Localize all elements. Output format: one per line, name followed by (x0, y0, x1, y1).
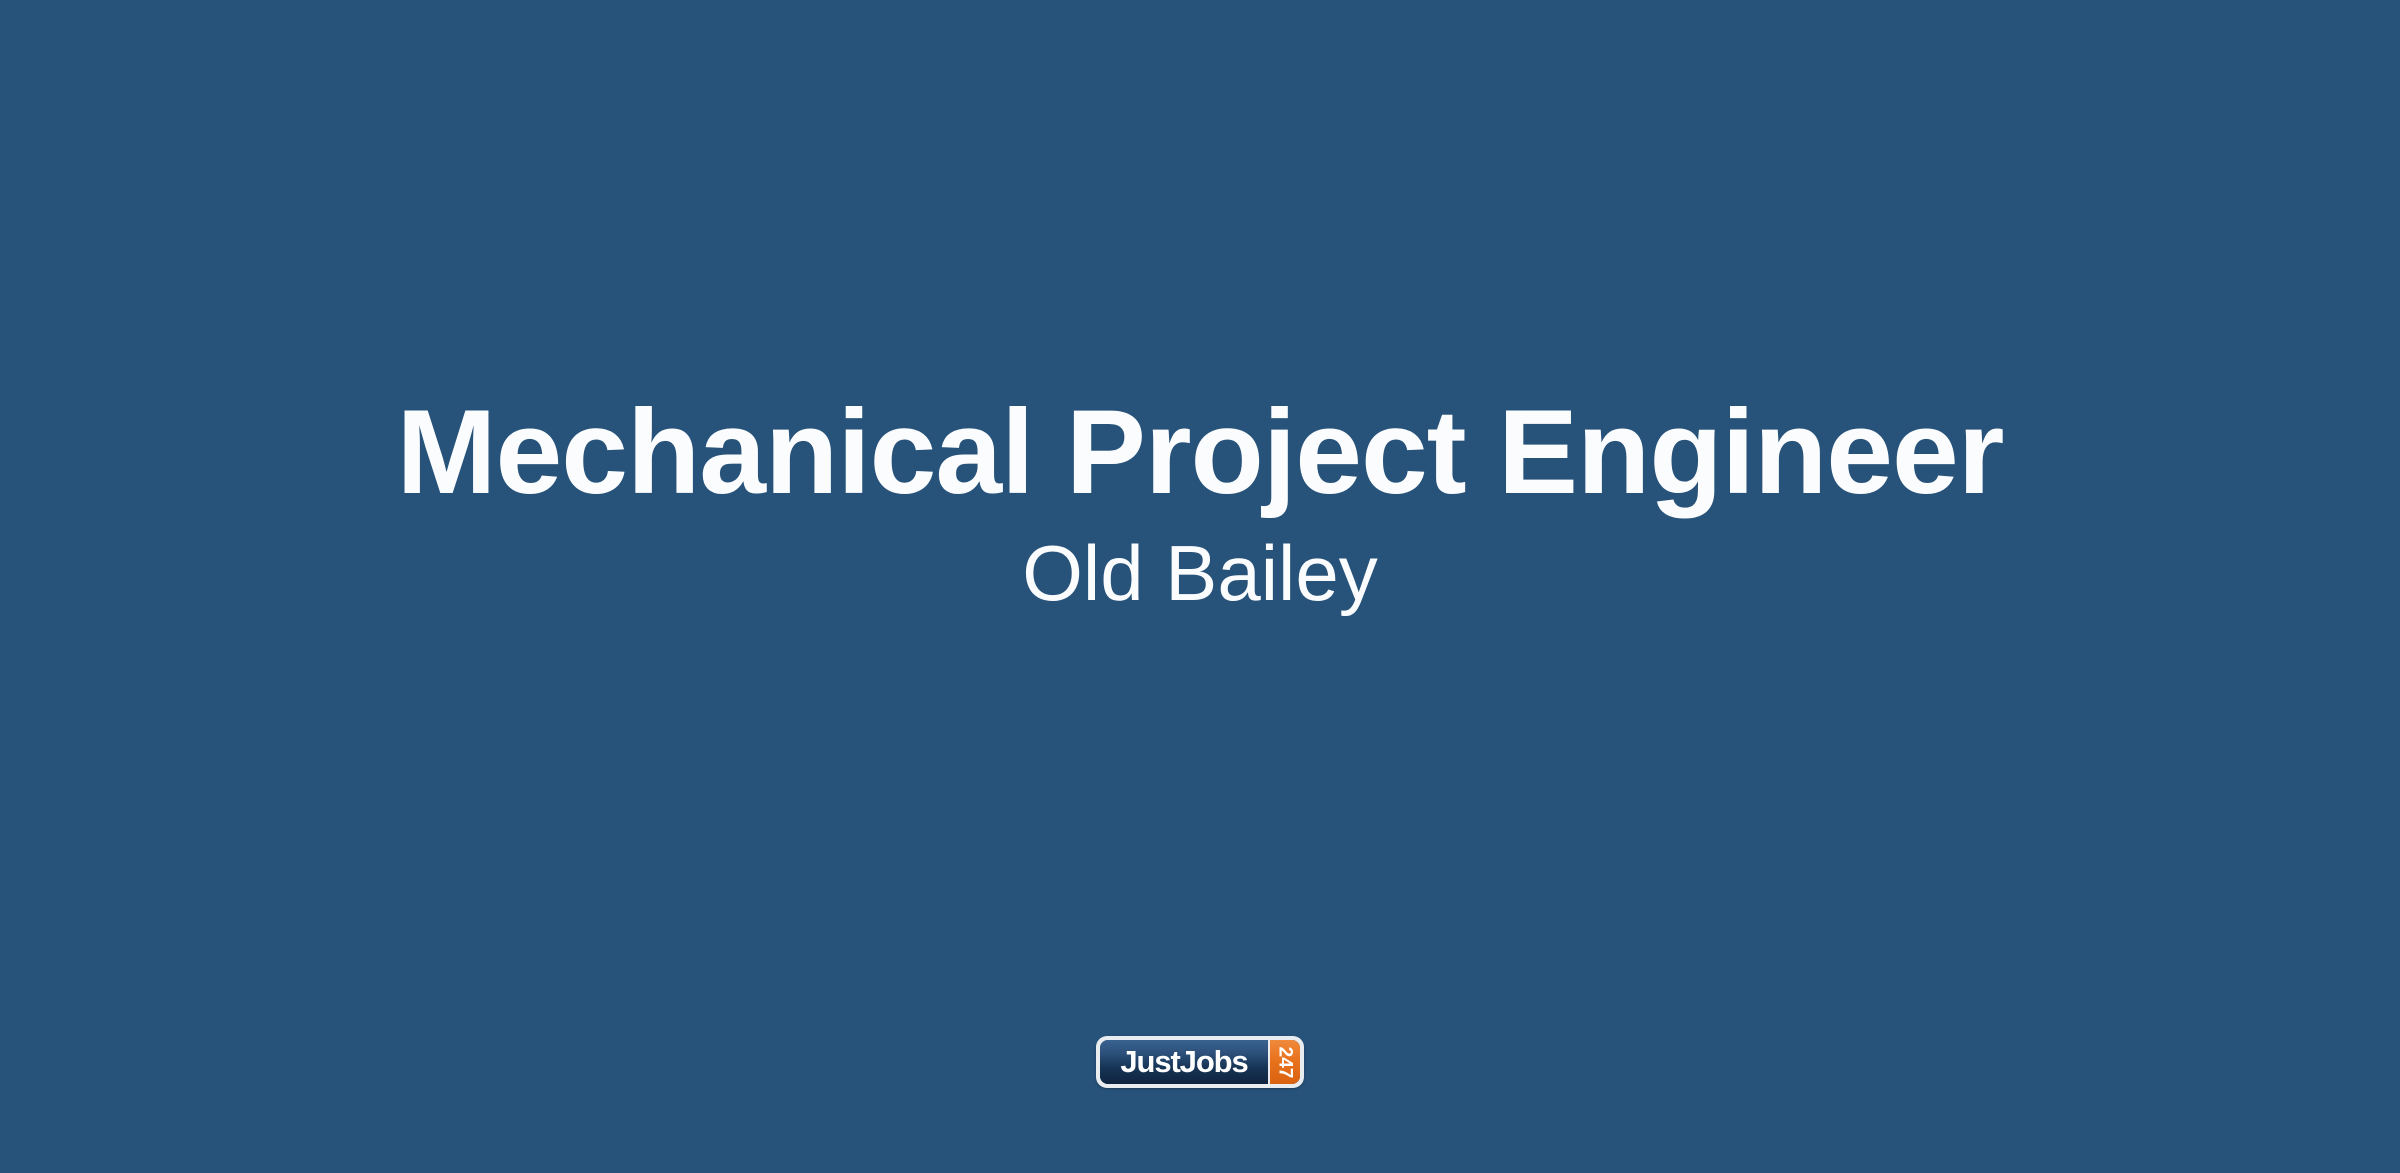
logo-wordmark-text: JustJobs (1120, 1046, 1247, 1077)
logo-inner-panel: JustJobs 247 (1100, 1040, 1300, 1084)
logo-wordmark-panel: JustJobs (1100, 1040, 1268, 1084)
justjobs247-logo[interactable]: JustJobs 247 (1096, 1036, 1304, 1088)
logo-badge-text: 247 (1276, 1046, 1295, 1078)
job-heading-group: Mechanical Project Engineer Old Bailey (0, 392, 2400, 612)
branding-footer: JustJobs 247 (0, 1036, 2400, 1088)
page-title: Mechanical Project Engineer (0, 392, 2400, 512)
job-location: Old Bailey (0, 512, 2400, 612)
job-title-slide: Mechanical Project Engineer Old Bailey J… (0, 0, 2400, 1173)
logo-247-badge: 247 (1268, 1040, 1300, 1084)
